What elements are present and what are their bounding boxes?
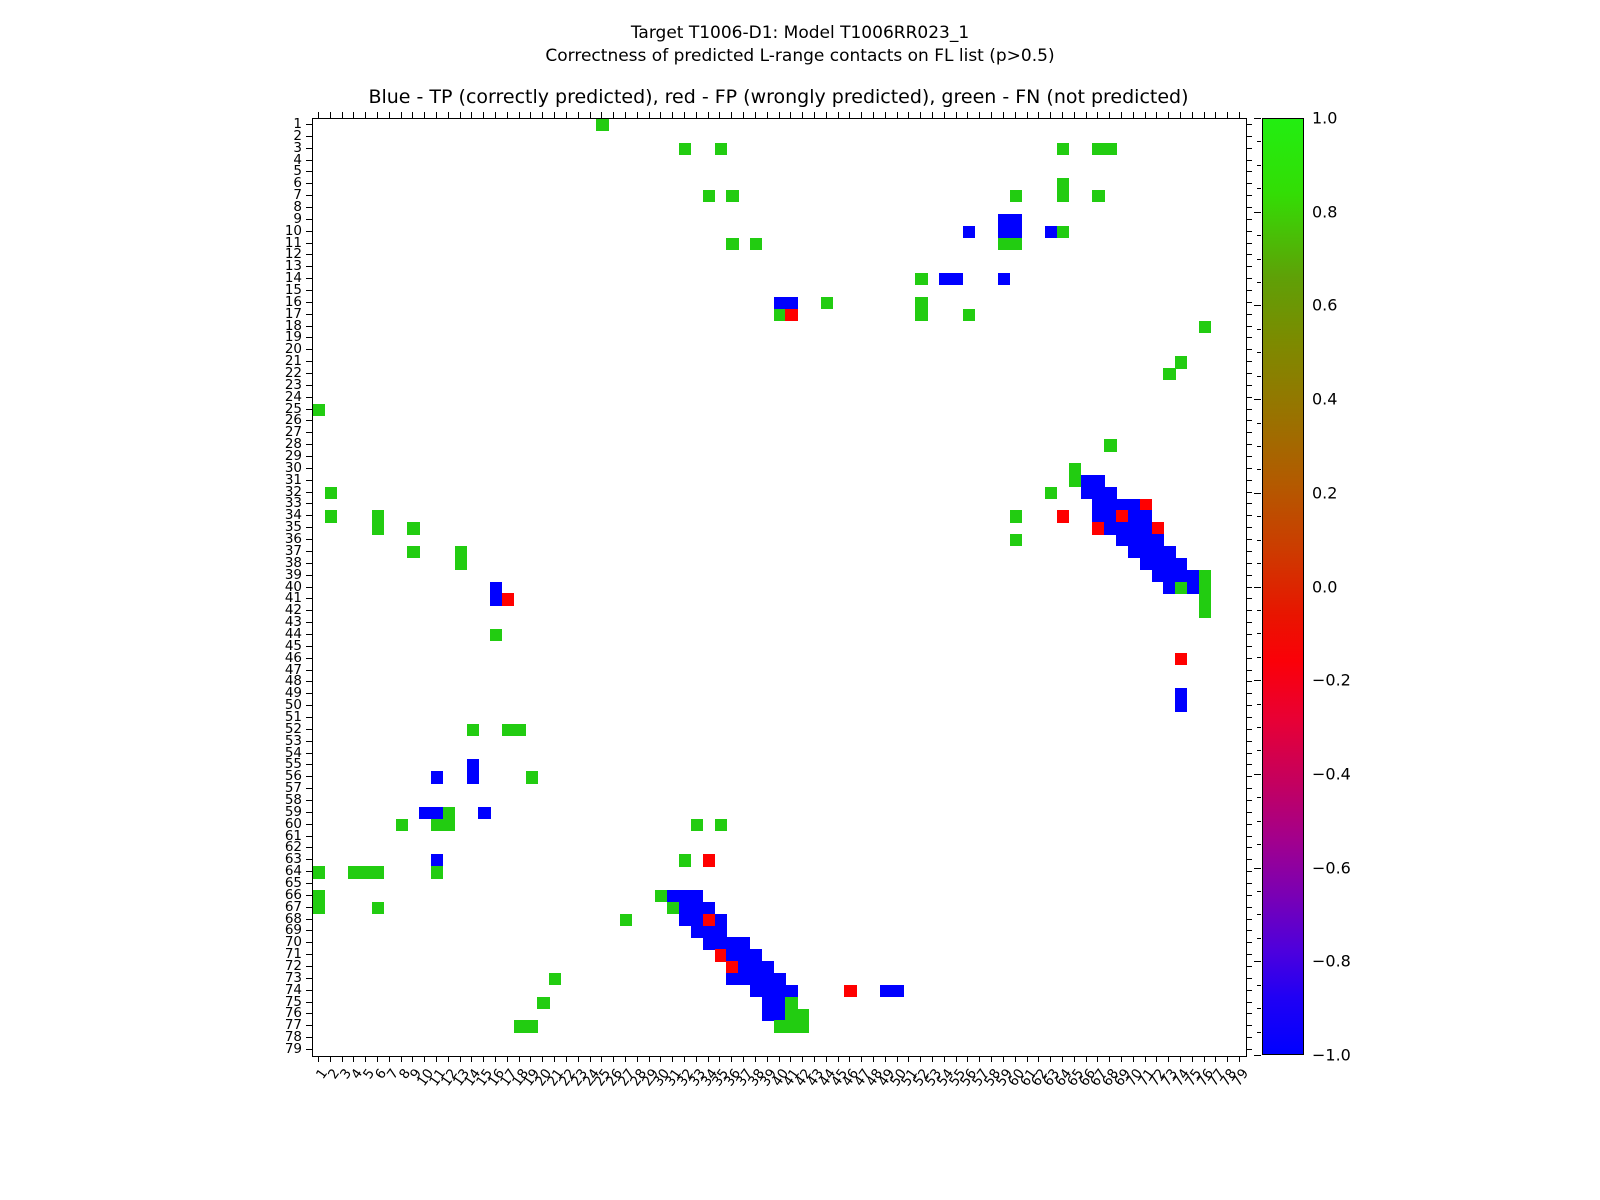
- y-tick-mark-right: [1246, 693, 1252, 694]
- heatmap-cell: [1104, 510, 1116, 522]
- y-tick-mark: [306, 954, 312, 955]
- heatmap-cell: [1140, 510, 1152, 522]
- x-tick-mark-top: [448, 112, 449, 118]
- colorbar-minor-tick: [1257, 704, 1261, 705]
- y-tick-mark-right: [1246, 753, 1252, 754]
- y-tick-mark: [306, 753, 312, 754]
- heatmap-cell: [738, 937, 750, 949]
- heatmap-cell: [1187, 570, 1199, 582]
- y-tick-mark-right: [1246, 1002, 1252, 1003]
- y-tick-mark-right: [1246, 919, 1252, 920]
- x-tick-mark: [1038, 1056, 1039, 1062]
- x-tick-mark: [353, 1056, 354, 1062]
- x-tick-mark-top: [991, 112, 992, 118]
- heatmap-cell: [1092, 522, 1104, 534]
- heatmap-cell: [762, 997, 774, 1009]
- y-tick-mark-right: [1246, 942, 1252, 943]
- x-tick-mark-top: [590, 112, 591, 118]
- y-tick-mark: [306, 456, 312, 457]
- x-tick-mark-top: [389, 112, 390, 118]
- colorbar-minor-tick: [1257, 423, 1261, 424]
- x-tick-mark: [377, 1056, 378, 1062]
- colorbar-tick-mark: [1254, 305, 1261, 306]
- x-tick-mark-top: [1050, 112, 1051, 118]
- heatmap-cell: [1128, 510, 1140, 522]
- colorbar-tick-label: 0.4: [1312, 390, 1337, 409]
- y-tick-mark: [306, 539, 312, 540]
- heatmap-cell: [679, 914, 691, 926]
- y-tick-mark-right: [1246, 729, 1252, 730]
- y-tick-mark: [306, 254, 312, 255]
- y-tick-mark: [306, 741, 312, 742]
- heatmap-cell: [313, 902, 325, 914]
- heatmap-cell: [691, 902, 703, 914]
- colorbar-minor-tick: [1257, 657, 1261, 658]
- y-tick-mark: [306, 575, 312, 576]
- x-tick-mark-top: [401, 112, 402, 118]
- x-tick-mark: [1109, 1056, 1110, 1062]
- x-tick-mark: [460, 1056, 461, 1062]
- y-tick-label: 79: [252, 1041, 302, 1057]
- heatmap-cell: [774, 1020, 786, 1032]
- heatmap-cell: [1187, 582, 1199, 594]
- x-tick-mark-top: [1109, 112, 1110, 118]
- heatmap-cell: [750, 985, 762, 997]
- y-tick-mark-right: [1246, 1013, 1252, 1014]
- y-tick-mark: [306, 160, 312, 161]
- y-tick-mark-right: [1246, 337, 1252, 338]
- y-tick-mark-right: [1246, 895, 1252, 896]
- y-tick-mark: [306, 1025, 312, 1026]
- y-tick-mark: [306, 302, 312, 303]
- y-tick-mark-right: [1246, 598, 1252, 599]
- heatmap-cell: [313, 890, 325, 902]
- heatmap-cell: [467, 724, 479, 736]
- x-tick-mark-top: [530, 112, 531, 118]
- heatmap-cell: [325, 510, 337, 522]
- x-tick-mark: [530, 1056, 531, 1062]
- heatmap-cell: [360, 866, 372, 878]
- heatmap-cell: [939, 273, 951, 285]
- colorbar-tick-label: 0.0: [1312, 577, 1337, 596]
- x-tick-mark: [330, 1056, 331, 1062]
- heatmap-cell: [1069, 475, 1081, 487]
- heatmap-cell: [549, 973, 561, 985]
- heatmap-cell: [703, 914, 715, 926]
- y-tick-mark-right: [1246, 148, 1252, 149]
- y-tick-mark: [306, 622, 312, 623]
- heatmap-cell: [431, 854, 443, 866]
- heatmap-cell: [1163, 570, 1175, 582]
- colorbar-minor-tick: [1257, 750, 1261, 751]
- x-tick-mark: [1168, 1056, 1169, 1062]
- x-tick-mark: [708, 1056, 709, 1062]
- colorbar-minor-tick: [1257, 540, 1261, 541]
- colorbar-tick-label: −1.0: [1312, 1046, 1351, 1065]
- heatmap-cell: [490, 593, 502, 605]
- y-tick-mark: [306, 919, 312, 920]
- x-tick-mark-top: [932, 112, 933, 118]
- colorbar-minor-tick: [1257, 844, 1261, 845]
- heatmap-cell: [431, 866, 443, 878]
- x-tick-mark-top: [424, 112, 425, 118]
- colorbar-minor-tick: [1257, 633, 1261, 634]
- x-tick-mark: [578, 1056, 579, 1062]
- y-tick-mark-right: [1246, 990, 1252, 991]
- heatmap-cells: [313, 119, 1246, 1056]
- heatmap-cell: [372, 522, 384, 534]
- heatmap-cell: [1010, 214, 1022, 226]
- x-tick-mark: [743, 1056, 744, 1062]
- y-tick-mark-right: [1246, 397, 1252, 398]
- x-tick-mark-top: [377, 112, 378, 118]
- x-tick-mark: [802, 1056, 803, 1062]
- y-tick-mark-right: [1246, 254, 1252, 255]
- y-tick-mark: [306, 326, 312, 327]
- heatmap-cell: [455, 558, 467, 570]
- colorbar-tick-mark: [1254, 868, 1261, 869]
- heatmap-cell: [726, 190, 738, 202]
- x-tick-mark: [684, 1056, 685, 1062]
- heatmap-cell: [1010, 238, 1022, 250]
- y-tick-mark: [306, 207, 312, 208]
- heatmap-cell: [774, 309, 786, 321]
- heatmap-cell: [431, 819, 443, 831]
- heatmap-cell: [762, 985, 774, 997]
- x-tick-mark: [979, 1056, 980, 1062]
- y-tick-mark: [306, 278, 312, 279]
- heatmap-cell: [679, 890, 691, 902]
- y-tick-mark-right: [1246, 171, 1252, 172]
- colorbar-minor-tick: [1257, 188, 1261, 189]
- heatmap-cell: [1092, 190, 1104, 202]
- x-tick-mark-top: [625, 112, 626, 118]
- x-tick-mark-top: [755, 112, 756, 118]
- heatmap-cell: [1140, 499, 1152, 511]
- x-tick-mark: [1215, 1056, 1216, 1062]
- heatmap-cell: [313, 866, 325, 878]
- colorbar-tick-mark: [1254, 1055, 1261, 1056]
- heatmap-cell: [1104, 522, 1116, 534]
- colorbar-tick-label: 0.2: [1312, 483, 1337, 502]
- colorbar-minor-tick: [1257, 891, 1261, 892]
- heatmap-cell: [526, 1020, 538, 1032]
- x-tick-mark: [1050, 1056, 1051, 1062]
- heatmap-cell: [1199, 605, 1211, 617]
- colorbar-tick-label: −0.8: [1312, 952, 1351, 971]
- heatmap-cell: [431, 807, 443, 819]
- x-tick-mark-top: [436, 112, 437, 118]
- y-tick-mark-right: [1246, 503, 1252, 504]
- x-tick-mark-top: [979, 112, 980, 118]
- y-tick-mark-right: [1246, 266, 1252, 267]
- heatmap-cell: [726, 961, 738, 973]
- colorbar-minor-tick: [1257, 446, 1261, 447]
- heatmap-cell: [679, 854, 691, 866]
- heatmap-cell: [502, 724, 514, 736]
- heatmap-cell: [1175, 653, 1187, 665]
- y-tick-mark: [306, 717, 312, 718]
- colorbar-tick-mark: [1254, 680, 1261, 681]
- y-tick-mark: [306, 527, 312, 528]
- y-tick-mark-right: [1246, 871, 1252, 872]
- y-tick-mark-right: [1246, 563, 1252, 564]
- y-tick-mark-right: [1246, 847, 1252, 848]
- x-tick-mark-top: [1168, 112, 1169, 118]
- heatmap-cell: [774, 1009, 786, 1021]
- heatmap-cell: [726, 949, 738, 961]
- heatmap-cell: [443, 807, 455, 819]
- heatmap-cell: [703, 190, 715, 202]
- heatmap-cell: [1092, 475, 1104, 487]
- x-tick-mark-top: [365, 112, 366, 118]
- heatmap-cell: [1140, 522, 1152, 534]
- heatmap-cell: [998, 226, 1010, 238]
- heatmap-cell: [431, 771, 443, 783]
- x-tick-mark: [1121, 1056, 1122, 1062]
- heatmap-cell: [1140, 546, 1152, 558]
- heatmap-cell: [1199, 321, 1211, 333]
- x-tick-mark: [483, 1056, 484, 1062]
- y-tick-mark-right: [1246, 373, 1252, 374]
- x-tick-mark-top: [814, 112, 815, 118]
- x-tick-mark-top: [1145, 112, 1146, 118]
- y-tick-mark: [306, 136, 312, 137]
- y-tick-mark: [306, 480, 312, 481]
- heatmap-cell: [1163, 368, 1175, 380]
- y-tick-mark-right: [1246, 610, 1252, 611]
- x-tick-mark: [696, 1056, 697, 1062]
- colorbar-minor-tick: [1257, 516, 1261, 517]
- y-tick-mark-right: [1246, 670, 1252, 671]
- y-tick-mark: [306, 729, 312, 730]
- x-tick-mark-top: [790, 112, 791, 118]
- y-tick-mark-right: [1246, 1049, 1252, 1050]
- y-tick-mark-right: [1246, 136, 1252, 137]
- colorbar-tick-mark: [1254, 118, 1261, 119]
- heatmap-cell: [715, 926, 727, 938]
- y-tick-mark-right: [1246, 124, 1252, 125]
- y-tick-mark-right: [1246, 420, 1252, 421]
- heatmap-cell: [797, 1020, 809, 1032]
- x-tick-mark-top: [826, 112, 827, 118]
- x-tick-mark: [1062, 1056, 1063, 1062]
- heatmap-cell: [738, 961, 750, 973]
- x-tick-mark: [1027, 1056, 1028, 1062]
- x-tick-mark: [1180, 1056, 1181, 1062]
- heatmap-plot-area[interactable]: [312, 118, 1247, 1057]
- x-tick-mark-top: [908, 112, 909, 118]
- y-tick-mark-right: [1246, 231, 1252, 232]
- y-tick-mark-right: [1246, 954, 1252, 955]
- y-tick-mark-right: [1246, 207, 1252, 208]
- x-tick-mark: [1097, 1056, 1098, 1062]
- y-tick-mark-right: [1246, 349, 1252, 350]
- heatmap-cell: [785, 1009, 797, 1021]
- y-tick-mark-right: [1246, 836, 1252, 837]
- y-tick-mark-right: [1246, 326, 1252, 327]
- x-tick-mark: [590, 1056, 591, 1062]
- y-tick-mark: [306, 598, 312, 599]
- x-tick-mark: [365, 1056, 366, 1062]
- x-tick-mark-top: [330, 112, 331, 118]
- colorbar-tick-label: −0.4: [1312, 764, 1351, 783]
- heatmap-cell: [1010, 510, 1022, 522]
- y-tick-mark-right: [1246, 978, 1252, 979]
- heatmap-cell: [726, 238, 738, 250]
- y-tick-mark: [306, 503, 312, 504]
- x-tick-mark: [731, 1056, 732, 1062]
- y-tick-mark: [306, 385, 312, 386]
- heatmap-cell: [490, 629, 502, 641]
- y-tick-mark: [306, 978, 312, 979]
- y-tick-mark-right: [1246, 195, 1252, 196]
- colorbar-tick-mark: [1254, 961, 1261, 962]
- colorbar-minor-tick: [1257, 1008, 1261, 1009]
- heatmap-cell: [998, 238, 1010, 250]
- x-tick-mark: [401, 1056, 402, 1062]
- x-tick-mark-top: [507, 112, 508, 118]
- y-tick-mark-right: [1246, 468, 1252, 469]
- colorbar-minor-tick: [1257, 235, 1261, 236]
- heatmap-cell: [915, 273, 927, 285]
- colorbar-minor-tick: [1257, 259, 1261, 260]
- x-tick-mark-top: [660, 112, 661, 118]
- colorbar-minor-tick: [1257, 914, 1261, 915]
- heatmap-cell: [1045, 226, 1057, 238]
- heatmap-cell: [691, 890, 703, 902]
- heatmap-cell: [785, 997, 797, 1009]
- heatmap-cell: [596, 119, 608, 131]
- x-tick-mark-top: [483, 112, 484, 118]
- y-tick-mark: [306, 871, 312, 872]
- x-tick-mark: [412, 1056, 413, 1062]
- heatmap-cell: [998, 214, 1010, 226]
- colorbar-tick-label: −0.6: [1312, 858, 1351, 877]
- heatmap-cell: [407, 546, 419, 558]
- heatmap-cell: [1152, 522, 1164, 534]
- y-tick-mark: [306, 587, 312, 588]
- heatmap-cell: [1199, 582, 1211, 594]
- x-tick-mark-top: [708, 112, 709, 118]
- y-tick-mark: [306, 468, 312, 469]
- x-tick-mark: [956, 1056, 957, 1062]
- heatmap-cell: [1175, 700, 1187, 712]
- x-tick-mark-top: [956, 112, 957, 118]
- y-tick-mark-right: [1246, 515, 1252, 516]
- heatmap-cell: [703, 926, 715, 938]
- heatmap-cell: [667, 890, 679, 902]
- y-tick-mark: [306, 444, 312, 445]
- x-tick-mark-top: [672, 112, 673, 118]
- heatmap-cell: [514, 724, 526, 736]
- heatmap-cell: [1140, 534, 1152, 546]
- y-tick-mark: [306, 859, 312, 860]
- x-tick-mark: [1086, 1056, 1087, 1062]
- suptitle-line-1: Target T1006-D1: Model T1006RR023_1: [631, 23, 969, 43]
- y-tick-mark: [306, 658, 312, 659]
- colorbar-tick-label: 1.0: [1312, 109, 1337, 128]
- y-tick-mark-right: [1246, 788, 1252, 789]
- y-tick-mark-right: [1246, 361, 1252, 362]
- x-tick-mark-top: [1086, 112, 1087, 118]
- heatmap-cell: [880, 985, 892, 997]
- x-tick-mark-top: [849, 112, 850, 118]
- x-tick-mark-top: [353, 112, 354, 118]
- heatmap-cell: [1010, 190, 1022, 202]
- heatmap-cell: [1175, 570, 1187, 582]
- x-tick-mark: [672, 1056, 673, 1062]
- x-tick-mark: [861, 1056, 862, 1062]
- heatmap-cell: [455, 546, 467, 558]
- x-tick-mark: [471, 1056, 472, 1062]
- y-tick-mark: [306, 966, 312, 967]
- heatmap-cell: [1152, 570, 1164, 582]
- y-tick-mark-right: [1246, 575, 1252, 576]
- heatmap-cell: [1057, 226, 1069, 238]
- x-tick-mark-top: [1003, 112, 1004, 118]
- x-tick-mark: [849, 1056, 850, 1062]
- heatmap-cell: [703, 854, 715, 866]
- x-tick-mark-top: [1192, 112, 1193, 118]
- y-tick-mark-right: [1246, 539, 1252, 540]
- y-tick-mark-right: [1246, 1025, 1252, 1026]
- heatmap-cell: [738, 973, 750, 985]
- heatmap-cell: [1128, 499, 1140, 511]
- y-tick-mark: [306, 349, 312, 350]
- colorbar-minor-tick: [1257, 493, 1261, 494]
- y-tick-mark-right: [1246, 1037, 1252, 1038]
- y-tick-mark: [306, 990, 312, 991]
- heatmap-cell: [1152, 534, 1164, 546]
- y-tick-mark: [306, 397, 312, 398]
- x-tick-mark: [1204, 1056, 1205, 1062]
- heatmap-cell: [785, 297, 797, 309]
- x-tick-mark: [1015, 1056, 1016, 1062]
- heatmap-cell: [1104, 499, 1116, 511]
- y-tick-mark: [306, 610, 312, 611]
- y-tick-mark-right: [1246, 776, 1252, 777]
- y-tick-mark-right: [1246, 681, 1252, 682]
- heatmap-cell: [715, 949, 727, 961]
- x-tick-mark: [719, 1056, 720, 1062]
- y-tick-mark-right: [1246, 812, 1252, 813]
- y-tick-mark-right: [1246, 160, 1252, 161]
- heatmap-cell: [774, 297, 786, 309]
- x-tick-mark: [1239, 1056, 1240, 1062]
- x-tick-mark-top: [838, 112, 839, 118]
- x-tick-mark-top: [731, 112, 732, 118]
- colorbar-minor-tick: [1257, 610, 1261, 611]
- heatmap-cell: [679, 902, 691, 914]
- y-tick-mark: [306, 634, 312, 635]
- heatmap-cell: [750, 949, 762, 961]
- x-tick-mark: [814, 1056, 815, 1062]
- heatmap-cell: [1199, 593, 1211, 605]
- y-tick-mark-right: [1246, 278, 1252, 279]
- colorbar-minor-tick: [1257, 399, 1261, 400]
- figure-suptitle: Target T1006-D1: Model T1006RR023_1 Corr…: [0, 22, 1600, 68]
- heatmap-cell: [762, 1009, 774, 1021]
- x-tick-mark-top: [767, 112, 768, 118]
- heatmap-cell: [419, 807, 431, 819]
- heatmap-cell: [691, 914, 703, 926]
- colorbar-minor-tick: [1257, 1032, 1261, 1033]
- x-tick-mark-top: [460, 112, 461, 118]
- heatmap-cell: [715, 937, 727, 949]
- x-tick-mark: [1003, 1056, 1004, 1062]
- y-tick-mark: [306, 420, 312, 421]
